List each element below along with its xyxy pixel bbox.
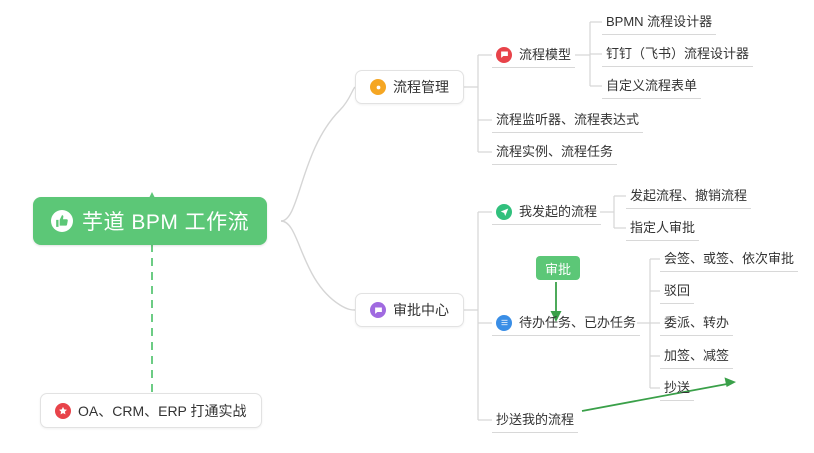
node-label: 抄送我的流程 [496, 407, 574, 433]
node-process-model[interactable]: 流程模型 [492, 42, 575, 68]
node-delegate-transfer[interactable]: 委派、转办 [660, 310, 733, 336]
footnote-node[interactable]: OA、CRM、ERP 打通实战 [40, 393, 262, 428]
thumbs-up-icon [51, 210, 73, 232]
node-label: BPMN 流程设计器 [606, 9, 712, 35]
node-label: 待办任务、已办任务 [519, 310, 636, 336]
branch-node-process-management[interactable]: 流程管理 [355, 70, 464, 104]
message-icon [496, 47, 512, 63]
node-label: 指定人审批 [630, 215, 695, 241]
node-cc-to-me[interactable]: 抄送我的流程 [492, 407, 578, 433]
tasks-icon [496, 315, 512, 331]
node-dingtalk-feishu-designer[interactable]: 钉钉（飞书）流程设计器 [602, 41, 753, 67]
chat-bubble-icon [370, 302, 386, 318]
node-listener-expression[interactable]: 流程监听器、流程表达式 [492, 107, 643, 133]
node-label: 抄送 [664, 375, 690, 401]
branch-node-approval-center[interactable]: 审批中心 [355, 293, 464, 327]
node-countersign[interactable]: 会签、或签、依次审批 [660, 246, 798, 272]
footnote-label: OA、CRM、ERP 打通实战 [78, 401, 247, 421]
mindmap-canvas: 芋道 BPM 工作流 流程管理 流程模型 BPMN 流程设计器 钉钉（飞书）流程… [0, 0, 814, 453]
branch-node-label: 流程管理 [393, 77, 449, 97]
send-icon [496, 204, 512, 220]
node-label: 流程实例、流程任务 [496, 139, 613, 165]
node-todo-done-tasks[interactable]: 待办任务、已办任务 [492, 310, 640, 336]
node-label: 驳回 [664, 278, 690, 304]
root-node[interactable]: 芋道 BPM 工作流 [33, 197, 267, 245]
node-label: 发起流程、撤销流程 [630, 183, 747, 209]
node-label: 加签、减签 [664, 343, 729, 369]
root-node-label: 芋道 BPM 工作流 [82, 206, 249, 236]
node-cc[interactable]: 抄送 [660, 375, 694, 401]
node-label: 自定义流程表单 [606, 73, 697, 99]
tag-label: 审批 [545, 259, 571, 278]
node-label: 钉钉（飞书）流程设计器 [606, 41, 749, 67]
node-assigned-approver[interactable]: 指定人审批 [626, 215, 699, 241]
node-label: 委派、转办 [664, 310, 729, 336]
node-bpmn-designer[interactable]: BPMN 流程设计器 [602, 9, 716, 35]
node-instance-task[interactable]: 流程实例、流程任务 [492, 139, 617, 165]
node-label: 我发起的流程 [519, 199, 597, 225]
node-start-cancel-process[interactable]: 发起流程、撤销流程 [626, 183, 751, 209]
location-pin-icon [370, 79, 386, 95]
node-label: 流程监听器、流程表达式 [496, 107, 639, 133]
node-my-started-processes[interactable]: 我发起的流程 [492, 199, 601, 225]
node-reject[interactable]: 驳回 [660, 278, 694, 304]
node-label: 会签、或签、依次审批 [664, 246, 794, 272]
node-custom-process-form[interactable]: 自定义流程表单 [602, 73, 701, 99]
branch-node-label: 审批中心 [393, 300, 449, 320]
tag-approval: 审批 [536, 256, 580, 280]
node-label: 流程模型 [519, 42, 571, 68]
node-add-remove-sign[interactable]: 加签、减签 [660, 343, 733, 369]
star-icon [55, 403, 71, 419]
